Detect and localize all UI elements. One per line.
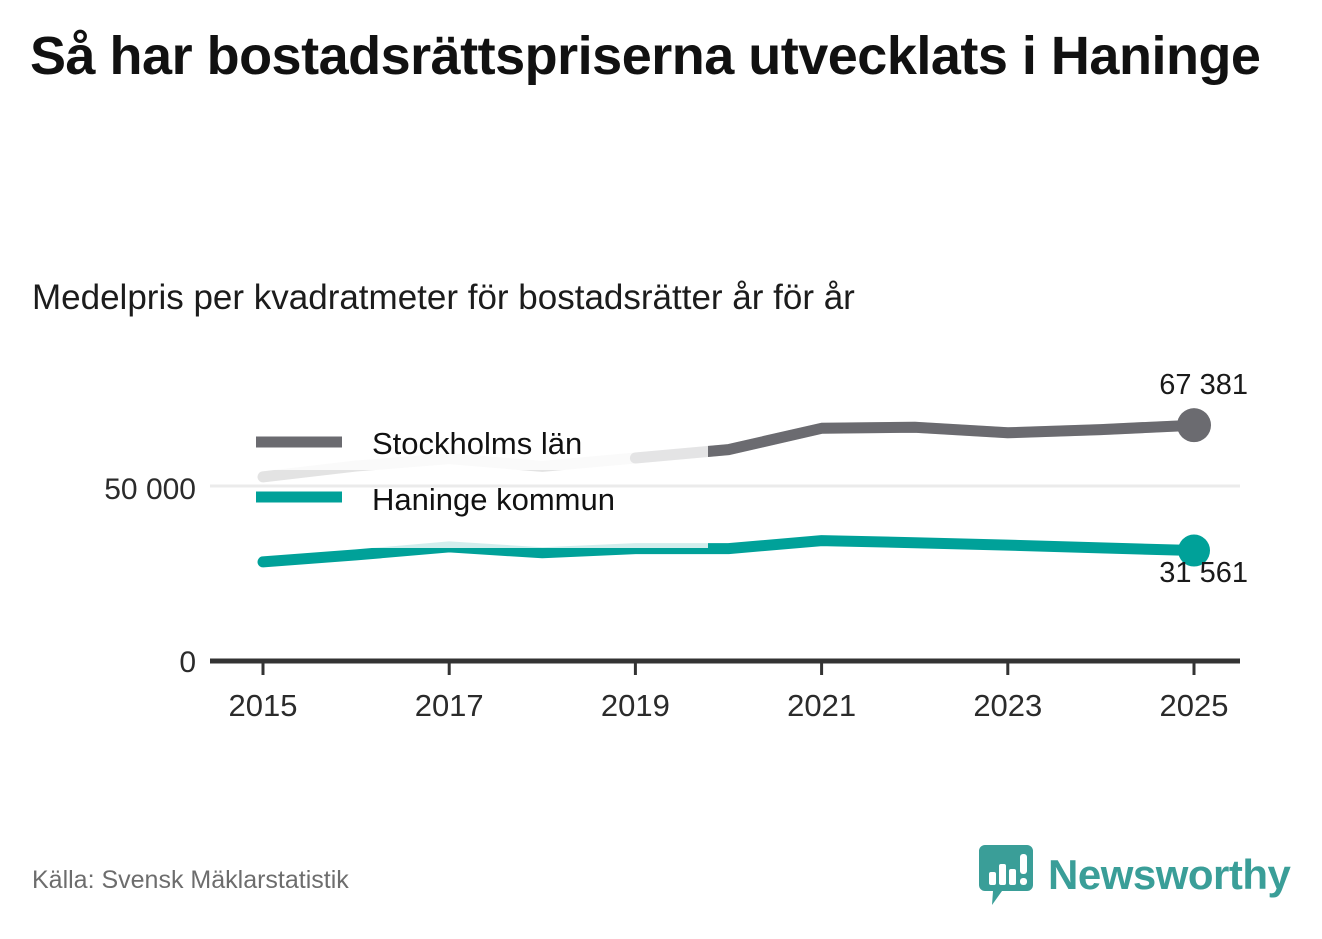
chart-subtitle: Medelpris per kvadratmeter för bostadsrä…	[32, 278, 1292, 318]
x-tick-label-2017: 2017	[415, 688, 484, 723]
legend-label-stockholm: Stockholms län	[372, 426, 582, 461]
newsworthy-speech-bubble-chart-icon	[978, 844, 1034, 906]
x-tick-label-2015: 2015	[229, 688, 298, 723]
x-tick-label-2023: 2023	[973, 688, 1042, 723]
newsworthy-wordmark: Newsworthy	[1048, 851, 1290, 899]
newsworthy-logo[interactable]: Newsworthy	[978, 840, 1290, 910]
line-chart: 67 381 31 561 Stockholms län Haninge kom…	[0, 360, 1322, 760]
source-note: Källa: Svensk Mäklarstatistik	[32, 866, 349, 895]
stockholm-line	[635, 425, 1194, 458]
x-tick-label-2019: 2019	[601, 688, 670, 723]
stockholm-value-label: 67 381	[1159, 369, 1248, 401]
y-tick-label-50000: 50 000	[104, 473, 196, 506]
haninge-value-label: 31 561	[1159, 557, 1248, 589]
x-tick-label-2025: 2025	[1160, 688, 1229, 723]
x-tick-label-2021: 2021	[787, 688, 856, 723]
chart-container: 67 381 31 561 Stockholms län Haninge kom…	[0, 360, 1322, 760]
y-tick-label-0: 0	[179, 646, 196, 679]
x-axis-tick-labels: 201520172019202120232025	[229, 688, 1229, 723]
page-title: Så har bostadsrättspriserna utvecklats i…	[30, 26, 1290, 86]
stockholm-endpoint-marker	[1177, 408, 1211, 442]
legend-label-haninge: Haninge kommun	[372, 482, 615, 517]
